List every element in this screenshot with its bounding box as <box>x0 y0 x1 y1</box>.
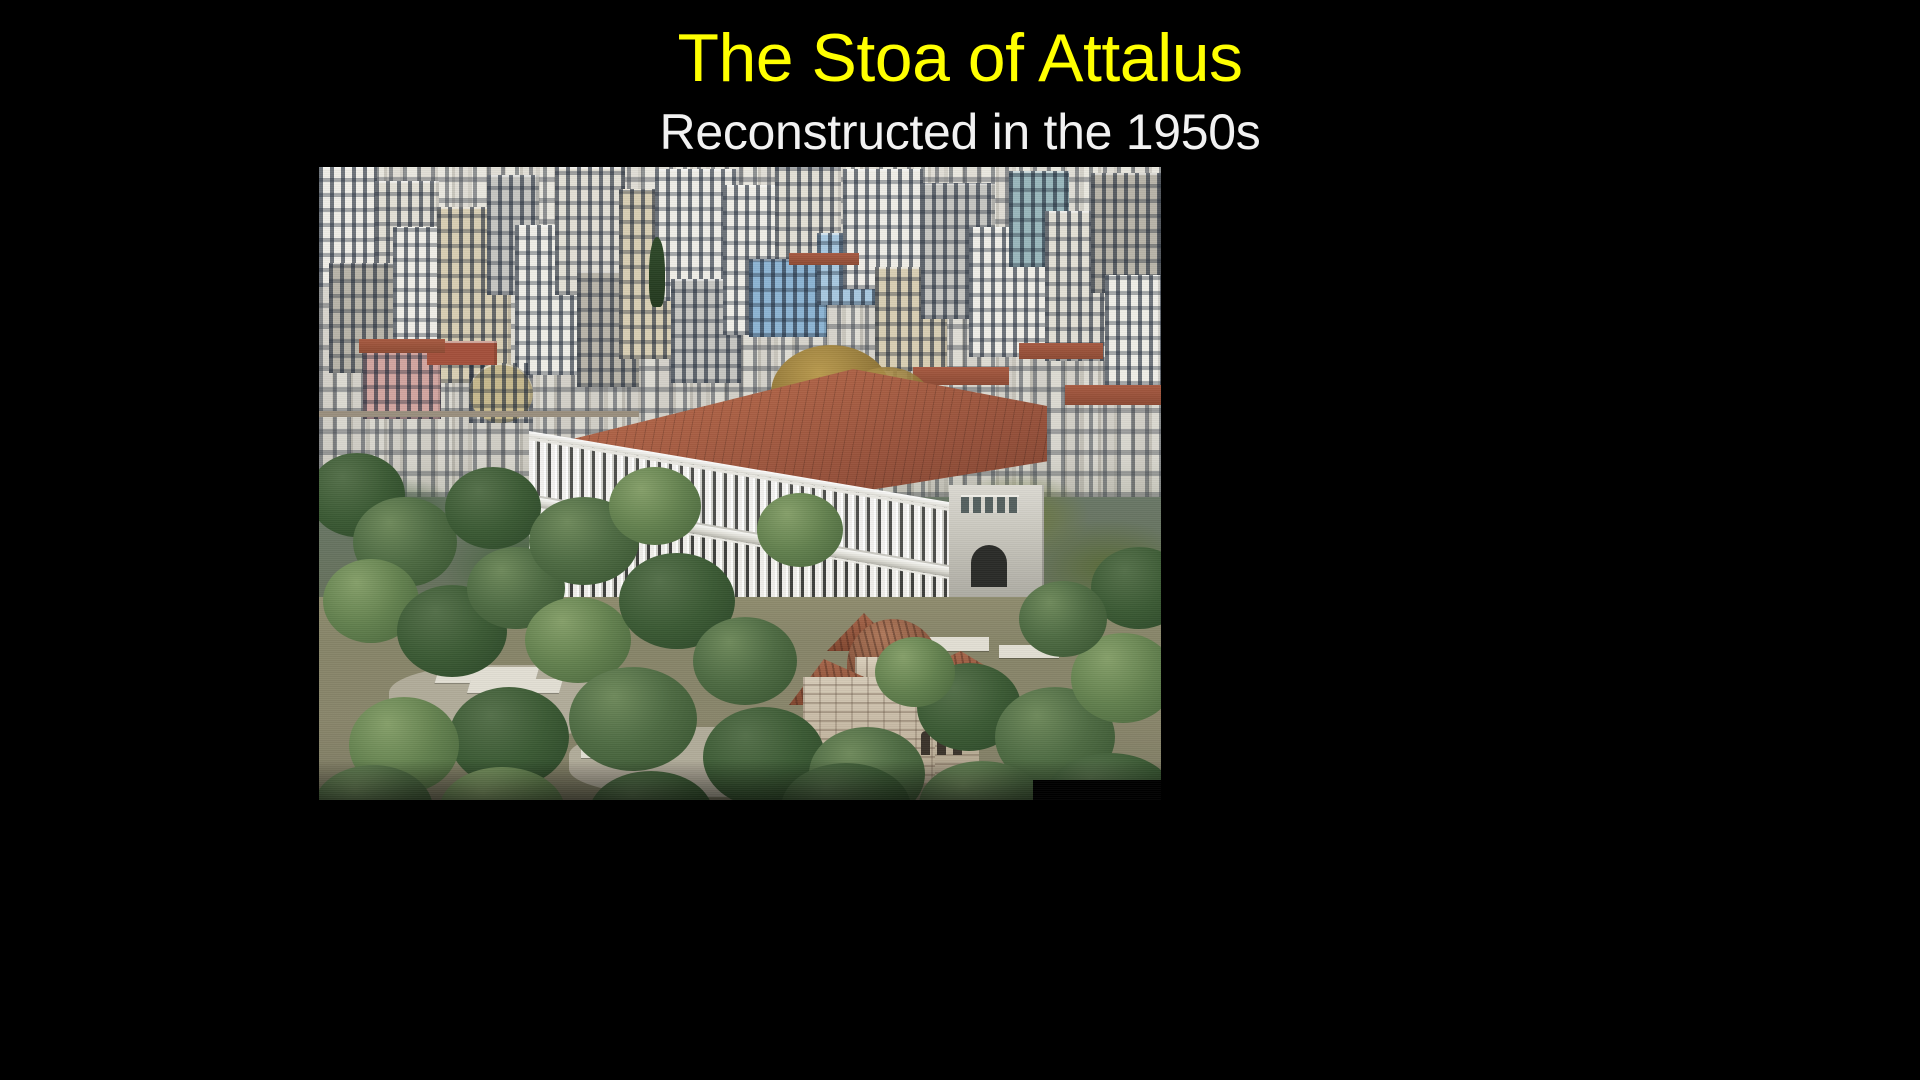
photo-corner-notch <box>1033 780 1161 800</box>
page-subtitle: Reconstructed in the 1950s <box>0 102 1920 162</box>
city-building <box>1105 275 1161 385</box>
stoa-end-wall-arch <box>971 545 1007 587</box>
olive-tree <box>1019 581 1107 657</box>
olive-tree <box>569 667 697 771</box>
city-building-blue <box>749 259 827 337</box>
olive-tree <box>875 637 955 707</box>
cypress-tree <box>649 237 665 307</box>
stoa-end-wall-windows <box>961 495 1019 513</box>
stoa-of-attalus <box>519 363 1049 623</box>
city-tile-roof <box>359 339 445 353</box>
title-block: The Stoa of Attalus Reconstructed in the… <box>0 18 1920 162</box>
city-tile-roof <box>789 253 859 265</box>
olive-tree <box>693 617 797 705</box>
page-title: The Stoa of Attalus <box>0 18 1920 98</box>
olive-tree <box>445 467 541 549</box>
city-tile-roof <box>1019 343 1103 359</box>
photograph <box>319 167 1161 800</box>
olive-tree <box>609 467 701 545</box>
photo-stage <box>319 167 1161 800</box>
presentation-slide: The Stoa of Attalus Reconstructed in the… <box>0 0 1920 1080</box>
city-tile-roof <box>1065 385 1161 405</box>
olive-tree <box>757 493 843 567</box>
